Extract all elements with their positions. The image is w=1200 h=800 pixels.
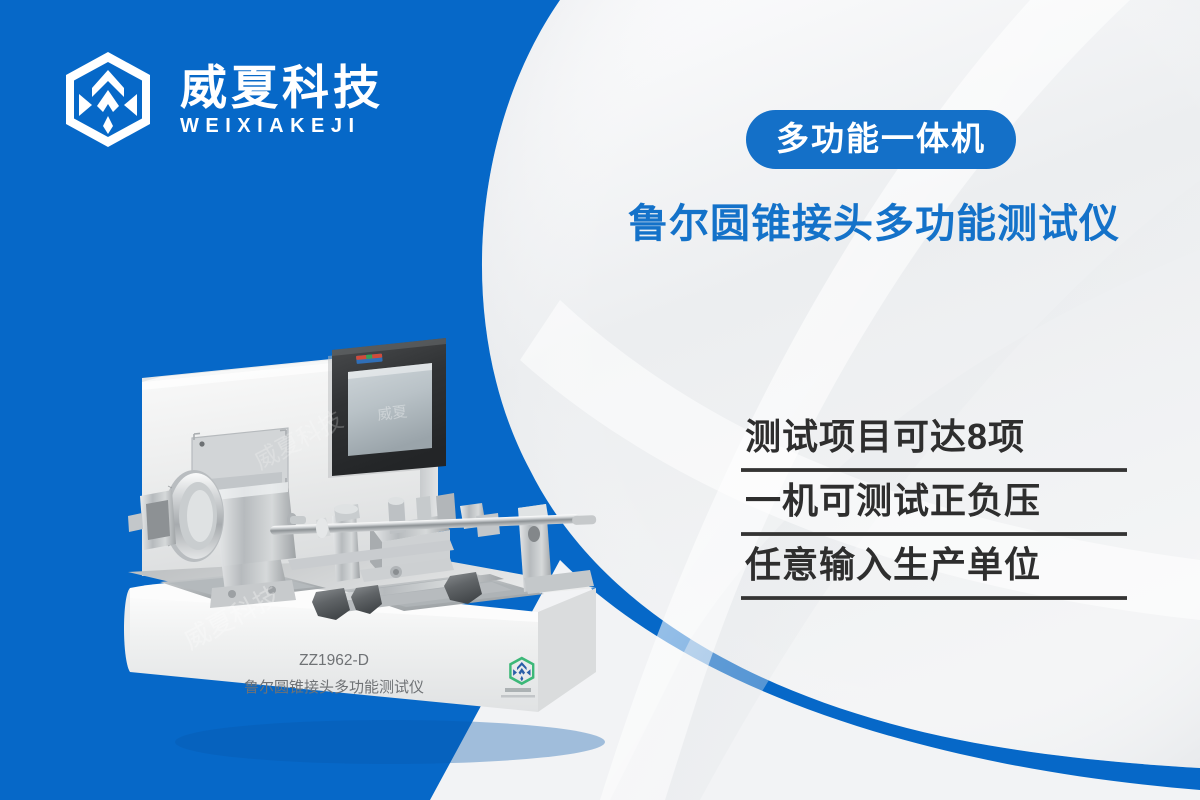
feature-list: 测试项目可达8项 一机可测试正负压 任意输入生产单位 [741,408,1131,600]
feature-item: 测试项目可达8项 [741,408,1131,472]
hexagon-arrow-logo-icon [62,50,154,150]
feature-label: 测试项目可达8项 [741,408,1131,468]
brand-logo: 威夏科技 WEIXIAKEJI [62,50,384,150]
feature-label: 任意输入生产单位 [741,536,1131,596]
brand-name-cn: 威夏科技 [180,63,384,112]
right-content-column: 多功能一体机 鲁尔圆锥接头多功能测试仪 测试项目可达8项 一机可测试正负压 任意… [733,0,1153,800]
category-badge: 多功能一体机 [746,110,1016,169]
brand-name-en: WEIXIAKEJI [180,115,384,137]
svg-text:威夏: 威夏 [376,403,408,424]
product-photo: 威夏 [120,320,640,740]
feature-item: 任意输入生产单位 [741,536,1131,600]
feature-label: 一机可测试正负压 [741,472,1131,532]
feature-divider [741,596,1127,600]
feature-item: 一机可测试正负压 [741,472,1131,536]
page-title: 鲁尔圆锥接头多功能测试仪 [628,200,1200,248]
hmi-touchscreen[interactable]: 威夏 [328,338,446,478]
product-model-text: ZZ1962-D [299,652,369,669]
product-name-text: 鲁尔圆锥接头多功能测试仪 [244,679,424,696]
banner-canvas: 威夏科技 WEIXIAKEJI [0,0,1200,800]
